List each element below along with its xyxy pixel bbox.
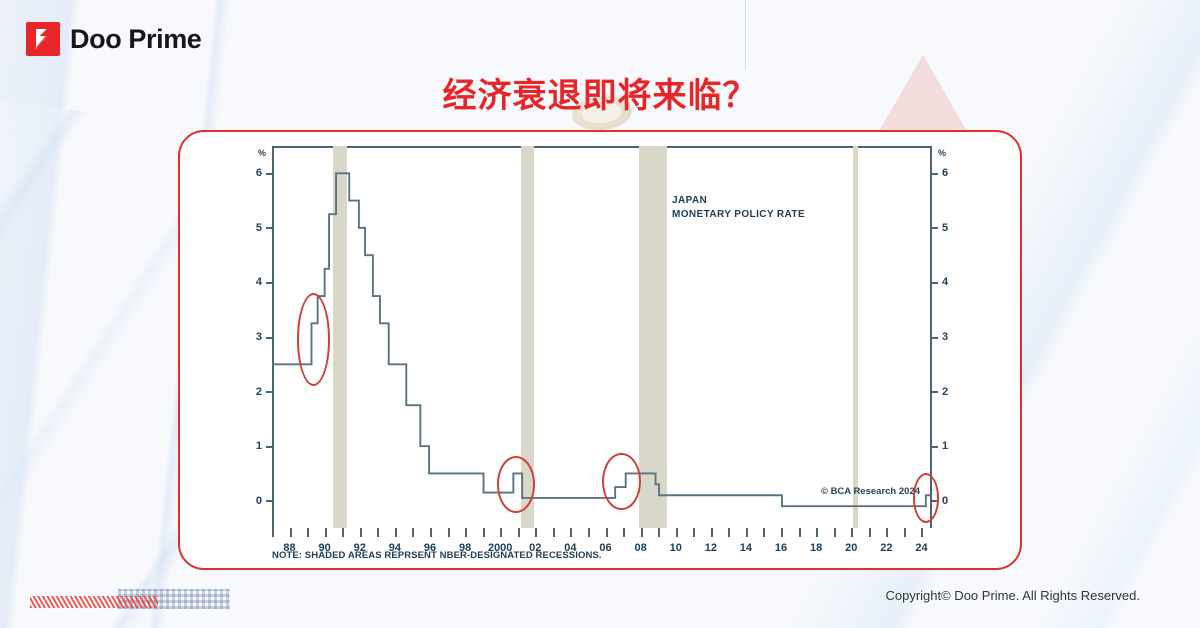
y-axis-tick-label: 0 xyxy=(942,496,948,507)
y-axis-tick-label: 1 xyxy=(256,441,262,452)
legend-subtitle: MONETARY POLICY RATE xyxy=(672,208,805,222)
x-axis-tick-mark xyxy=(290,528,292,537)
x-axis-tick-mark xyxy=(816,528,818,537)
x-axis-tick-mark xyxy=(711,528,713,537)
y-axis-tick-mark xyxy=(931,282,938,284)
x-axis-tick-mark xyxy=(799,528,801,537)
x-axis-tick-mark xyxy=(325,528,327,537)
x-axis-tick-label: 20 xyxy=(845,542,857,554)
x-axis-tick-mark xyxy=(430,528,432,537)
y-axis-tick-label: 3 xyxy=(256,332,262,343)
y-axis-tick-mark xyxy=(931,446,938,448)
x-axis-tick-mark xyxy=(448,528,450,537)
highlight-ellipse-annotation xyxy=(497,456,536,513)
y-axis-tick-mark xyxy=(931,173,938,175)
x-axis-tick-label: 18 xyxy=(810,542,822,554)
x-axis-tick-mark xyxy=(623,528,625,537)
footer-red-hatch-decoration xyxy=(30,596,158,608)
y-axis-tick-label: 4 xyxy=(256,277,262,288)
highlight-ellipse-annotation xyxy=(297,293,330,386)
x-axis-tick-mark xyxy=(272,528,274,537)
x-axis-tick-mark xyxy=(886,528,888,537)
y-axis-tick-label: 0 xyxy=(256,496,262,507)
x-axis-tick-mark xyxy=(904,528,906,537)
x-axis-tick-mark xyxy=(360,528,362,537)
x-axis-tick-label: 22 xyxy=(880,542,892,554)
slide-canvas: Doo Prime 经济衰退即将来临？ % % 0123456 0123456 … xyxy=(0,0,1200,628)
highlight-ellipse-annotation xyxy=(913,473,939,522)
x-axis-tick-mark xyxy=(342,528,344,537)
brand-name: Doo Prime xyxy=(70,24,201,55)
chart-plot-area: % % 0123456 0123456 JAPAN MONETARY POLIC… xyxy=(272,146,932,536)
y-axis-tick-label: 2 xyxy=(942,387,948,398)
x-axis-tick-mark xyxy=(834,528,836,537)
x-axis-tick-mark xyxy=(395,528,397,537)
flag-icon xyxy=(34,28,52,50)
y-axis-tick-label: 5 xyxy=(942,223,948,234)
highlight-ellipse-annotation xyxy=(602,453,641,510)
policy-rate-line xyxy=(272,146,932,528)
x-axis-tick-mark xyxy=(570,528,572,537)
x-axis-tick-mark xyxy=(641,528,643,537)
brand-logo[interactable]: Doo Prime xyxy=(26,22,201,56)
x-axis-tick-mark xyxy=(606,528,608,537)
x-axis-tick-mark xyxy=(483,528,485,537)
page-title: 经济衰退即将来临？ xyxy=(0,68,1200,117)
y-axis-tick-mark xyxy=(931,337,938,339)
y-axis-tick-label: 3 xyxy=(942,332,948,343)
x-axis-tick-mark xyxy=(746,528,748,537)
x-axis-tick-label: 16 xyxy=(775,542,787,554)
y-axis-tick-mark xyxy=(931,227,938,229)
x-axis-tick-mark xyxy=(851,528,853,537)
chart-credit: © BCA Research 2024 xyxy=(821,486,920,497)
x-axis-tick-mark xyxy=(465,528,467,537)
x-axis-tick-mark xyxy=(553,528,555,537)
x-axis-tick-mark xyxy=(535,528,537,537)
series-path xyxy=(272,173,932,506)
x-axis-tick-label: 14 xyxy=(740,542,752,554)
x-axis-tick-label: 12 xyxy=(705,542,717,554)
x-axis-tick-mark xyxy=(921,528,923,537)
x-axis: 8890929496982000020406081012141618202224 xyxy=(272,528,932,529)
doo-prime-mark-icon xyxy=(26,22,60,56)
x-axis-tick-label: 08 xyxy=(634,542,646,554)
y-axis-tick-label: 2 xyxy=(256,387,262,398)
chart-note: NOTE: SHADED AREAS REPRSENT NBER-DESIGNA… xyxy=(272,550,602,561)
x-axis-tick-mark xyxy=(869,528,871,537)
y-axis-tick-mark xyxy=(931,391,938,393)
y-axis-unit-right: % xyxy=(938,148,946,158)
legend-title: JAPAN xyxy=(672,194,805,208)
background-vertical-line xyxy=(745,0,746,70)
y-axis-tick-label: 6 xyxy=(942,168,948,179)
chart-legend: JAPAN MONETARY POLICY RATE xyxy=(672,194,805,221)
x-axis-tick-mark xyxy=(693,528,695,537)
x-axis-tick-mark xyxy=(377,528,379,537)
y-axis-tick-label: 1 xyxy=(942,441,948,452)
x-axis-tick-mark xyxy=(500,528,502,537)
x-axis-tick-mark xyxy=(676,528,678,537)
footer-copyright: Copyright© Doo Prime. All Rights Reserve… xyxy=(885,588,1140,603)
x-axis-tick-label: 10 xyxy=(670,542,682,554)
y-axis-tick-label: 5 xyxy=(256,223,262,234)
y-axis-tick-label: 4 xyxy=(942,277,948,288)
y-axis-unit-left: % xyxy=(258,148,266,158)
chart-card: % % 0123456 0123456 JAPAN MONETARY POLIC… xyxy=(178,130,1022,570)
x-axis-tick-mark xyxy=(658,528,660,537)
x-axis-tick-mark xyxy=(781,528,783,537)
x-axis-tick-label: 24 xyxy=(915,542,927,554)
x-axis-tick-mark xyxy=(307,528,309,537)
x-axis-tick-mark xyxy=(412,528,414,537)
x-axis-tick-mark xyxy=(518,528,520,537)
y-axis-tick-label: 6 xyxy=(256,168,262,179)
x-axis-tick-mark xyxy=(728,528,730,537)
x-axis-tick-mark xyxy=(588,528,590,537)
x-axis-tick-mark xyxy=(763,528,765,537)
